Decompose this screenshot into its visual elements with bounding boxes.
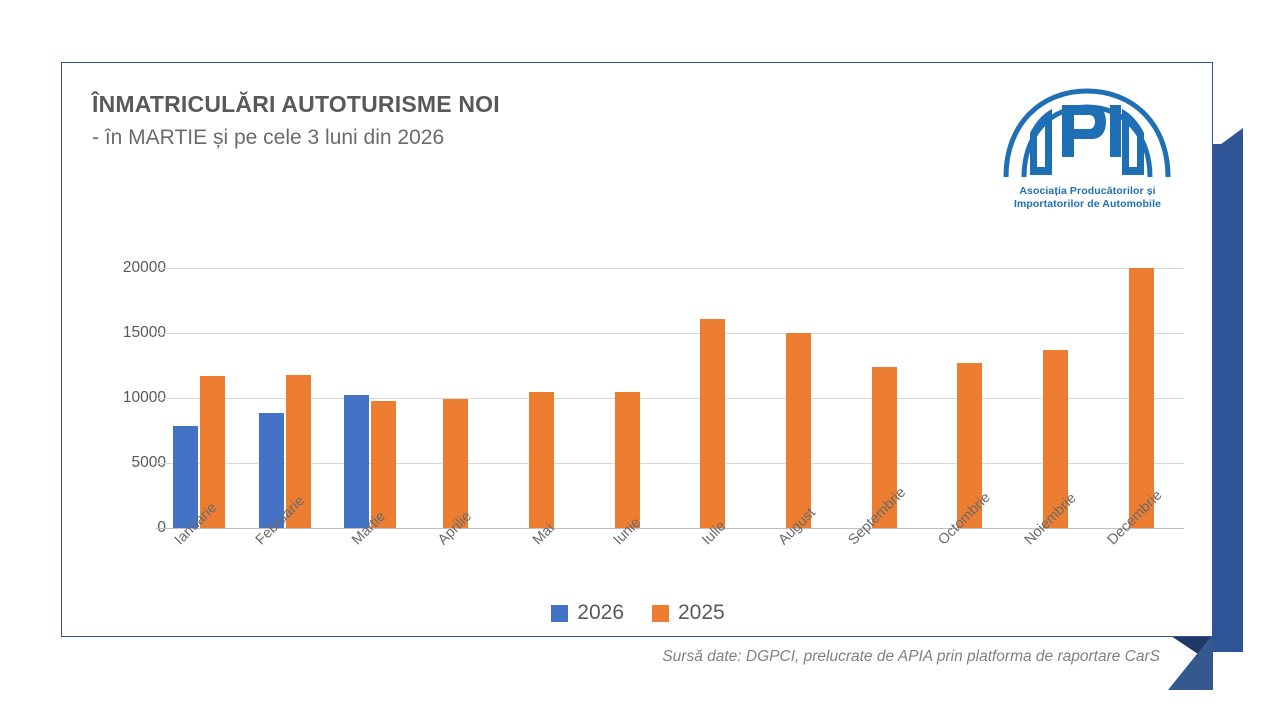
bar-group xyxy=(584,268,670,528)
x-axis-labels: IanuarieFebruarieMartieAprilieMaiIunieIu… xyxy=(156,531,1184,601)
bar-group xyxy=(927,268,1013,528)
bar-area xyxy=(156,268,1184,528)
x-axis-tick: Martie xyxy=(327,531,413,601)
legend-item-2026[interactable]: 2026 xyxy=(551,601,624,625)
bar-group xyxy=(242,268,328,528)
bar-group xyxy=(499,268,585,528)
bar-group xyxy=(1098,268,1184,528)
ribbon-body xyxy=(1213,144,1243,652)
bar-2025-decembrie[interactable] xyxy=(1129,268,1154,528)
slide: ÎNMATRICULĂRI AUTOTURISME NOI - în MARTI… xyxy=(0,0,1280,720)
x-axis-tick: Ianuarie xyxy=(156,531,242,601)
x-axis-tick: Septembrie xyxy=(841,531,927,601)
x-axis-tick: Noiembrie xyxy=(1013,531,1099,601)
x-axis-tick: Iulie xyxy=(670,531,756,601)
x-axis-tick: Octombrie xyxy=(927,531,1013,601)
x-axis-tick: August xyxy=(756,531,842,601)
bar-group xyxy=(327,268,413,528)
bar-group xyxy=(670,268,756,528)
bar-group xyxy=(756,268,842,528)
bar-group xyxy=(841,268,927,528)
bar-2025-iunie[interactable] xyxy=(615,392,640,528)
bar-2025-august[interactable] xyxy=(786,333,811,528)
bar-chart: 05000100001500020000 IanuarieFebruarieMa… xyxy=(62,63,1214,638)
x-axis-tick: Februarie xyxy=(242,531,328,601)
bar-2025-iulie[interactable] xyxy=(700,319,725,528)
x-axis-tick: Iunie xyxy=(584,531,670,601)
decorative-ribbon xyxy=(1213,128,1243,720)
legend-swatch-2025 xyxy=(652,605,669,622)
source-note: Sursă date: DGPCI, prelucrate de APIA pr… xyxy=(0,648,1160,666)
bar-group xyxy=(156,268,242,528)
bar-group xyxy=(1013,268,1099,528)
chart-card: ÎNMATRICULĂRI AUTOTURISME NOI - în MARTI… xyxy=(61,62,1213,637)
legend-label-2025: 2025 xyxy=(678,601,725,625)
x-axis-tick: Aprilie xyxy=(413,531,499,601)
bar-2025-martie[interactable] xyxy=(371,401,396,528)
ribbon-tail-triangle xyxy=(1168,634,1213,690)
x-axis-tick: Decembrie xyxy=(1098,531,1184,601)
legend-swatch-2026 xyxy=(551,605,568,622)
bar-2026-martie[interactable] xyxy=(344,395,369,528)
x-axis-tick: Mai xyxy=(499,531,585,601)
chart-legend: 20262025 xyxy=(62,601,1214,625)
legend-label-2026: 2026 xyxy=(577,601,624,625)
legend-item-2025[interactable]: 2025 xyxy=(652,601,725,625)
bar-group xyxy=(413,268,499,528)
bar-2025-mai[interactable] xyxy=(529,392,554,528)
